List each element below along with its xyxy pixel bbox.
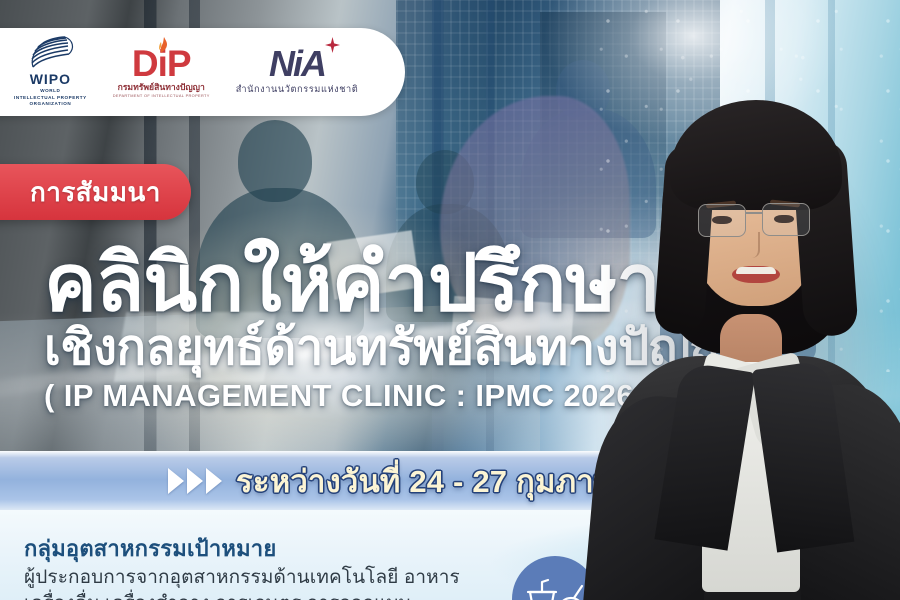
nia-wordmark: NiA (269, 47, 325, 81)
triple-play-arrow-icon (168, 468, 222, 494)
portrait-glasses-right-lens (762, 203, 810, 236)
logo-nia: NiA สำนักงานนวัตกรรมแห่งชาติ (236, 47, 359, 97)
target-industry-title: กลุ่มอุตสาหกรรมเป้าหมาย (24, 531, 276, 566)
play-arrow-icon (206, 468, 222, 494)
wipo-subtitle-line-1: WORLD (14, 88, 87, 95)
nia-thai-name: สำนักงานนวัตกรรมแห่งชาติ (236, 82, 359, 97)
wipo-subtitle-line-2: INTELLECTUAL PROPERTY (14, 95, 87, 102)
wipo-globe-icon (23, 36, 77, 70)
dip-flame-icon (157, 37, 170, 53)
food-beverage-glyph (524, 578, 586, 600)
logo-dip: DiP กรมทรัพย์สินทางปัญญา DEPARTMENT OF I… (113, 46, 210, 98)
portrait-teeth (736, 267, 776, 274)
nia-star-icon (325, 37, 340, 53)
dip-thai-name: กรมทรัพย์สินทางปัญญา (118, 82, 205, 92)
wipo-wordmark: WIPO (30, 72, 71, 86)
seminar-poster: WIPO WORLD INTELLECTUAL PROPERTY ORGANIZ… (0, 0, 900, 600)
wipo-subtitle: WORLD INTELLECTUAL PROPERTY ORGANIZATION (14, 88, 87, 109)
dip-english-name: DEPARTMENT OF INTELLECTUAL PROPERTY (113, 93, 210, 98)
play-arrow-icon (168, 468, 184, 494)
logo-wipo: WIPO WORLD INTELLECTUAL PROPERTY ORGANIZ… (14, 36, 87, 109)
target-industry-body-line-2: เครื่องดื่ม เครื่องสำอาง การเกษตร การออก… (24, 588, 411, 600)
portrait-glasses-left-lens (698, 204, 746, 237)
portrait-glasses-bridge (745, 212, 763, 214)
play-arrow-icon (187, 468, 203, 494)
portrait-nose (744, 232, 760, 258)
logo-bar: WIPO WORLD INTELLECTUAL PROPERTY ORGANIZ… (0, 28, 405, 116)
seminar-badge: การสัมมนา (0, 164, 191, 220)
wipo-subtitle-line-3: ORGANIZATION (14, 101, 87, 108)
speaker-portrait (598, 66, 900, 600)
seminar-badge-label: การสัมมนา (30, 172, 161, 213)
